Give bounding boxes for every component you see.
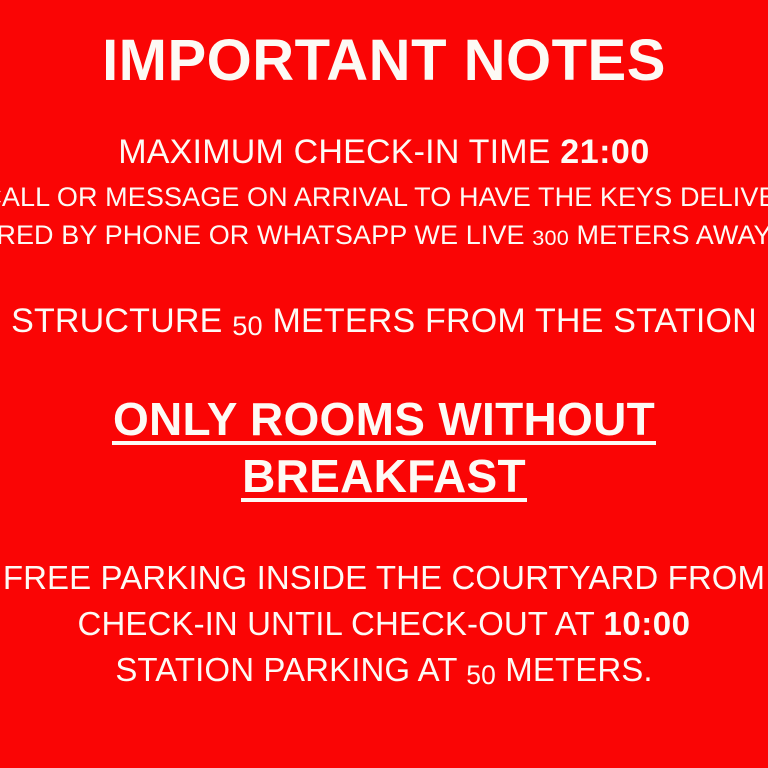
- maximum-checkin-time-line: MAXIMUM CHECK-IN TIME 21:00: [0, 134, 768, 170]
- no-breakfast-heading-text-2: BREAKFAST: [242, 448, 526, 505]
- parking-line-1: FREE PARKING INSIDE THE COURTYARD FROM: [3, 561, 765, 596]
- parking-line-3: STATION PARKING AT 50 METERS.: [3, 653, 765, 688]
- keys-delivery-distance-value: 300: [532, 225, 569, 250]
- parking-text-2-prefix: CHECK-IN UNTIL CHECK-OUT AT: [78, 605, 595, 642]
- keys-delivery-text-1: CALL OR MESSAGE ON ARRIVAL TO HAVE THE K…: [0, 182, 768, 212]
- keys-delivery-text-2-suffix: METERS AWAY: [577, 220, 768, 250]
- station-parking-suffix: METERS.: [505, 651, 652, 688]
- station-parking-distance-value: 50: [466, 660, 496, 690]
- keys-delivery-line-1: CALL OR MESSAGE ON ARRIVAL TO HAVE THE K…: [0, 183, 768, 212]
- parking-line-2: CHECK-IN UNTIL CHECK-OUT AT 10:00: [3, 607, 765, 642]
- no-breakfast-heading-line-2: BREAKFAST: [113, 448, 655, 505]
- checkout-time-value: 10:00: [604, 605, 691, 642]
- important-notes-panel: IMPORTANT NOTES MAXIMUM CHECK-IN TIME 21…: [0, 0, 768, 768]
- structure-suffix-label: METERS FROM THE STATION: [273, 302, 757, 340]
- structure-block: STRUCTURE 50 METERS FROM THE STATION: [11, 303, 757, 339]
- maximum-checkin-time-label: MAXIMUM CHECK-IN TIME: [118, 133, 550, 171]
- station-parking-prefix: STATION PARKING AT: [115, 651, 457, 688]
- structure-prefix-label: STRUCTURE: [11, 302, 222, 340]
- no-breakfast-heading: ONLY ROOMS WITHOUT BREAKFAST: [113, 391, 655, 505]
- no-breakfast-heading-line-1: ONLY ROOMS WITHOUT: [113, 391, 655, 448]
- keys-delivery-text-2-prefix: RED BY PHONE OR WHATSAPP WE LIVE: [0, 220, 525, 250]
- structure-distance-line: STRUCTURE 50 METERS FROM THE STATION: [11, 303, 757, 339]
- parking-text-1: FREE PARKING INSIDE THE COURTYARD FROM: [3, 559, 765, 596]
- no-breakfast-heading-text-1: ONLY ROOMS WITHOUT: [113, 391, 655, 448]
- keys-delivery-line-2: RED BY PHONE OR WHATSAPP WE LIVE 300 MET…: [0, 221, 768, 250]
- checkin-block: MAXIMUM CHECK-IN TIME 21:00 CALL OR MESS…: [0, 134, 768, 249]
- structure-distance-value: 50: [232, 310, 263, 341]
- checkin-time-value: 21:00: [560, 133, 649, 171]
- page-title: IMPORTANT NOTES: [102, 32, 666, 90]
- parking-block: FREE PARKING INSIDE THE COURTYARD FROM C…: [3, 561, 765, 688]
